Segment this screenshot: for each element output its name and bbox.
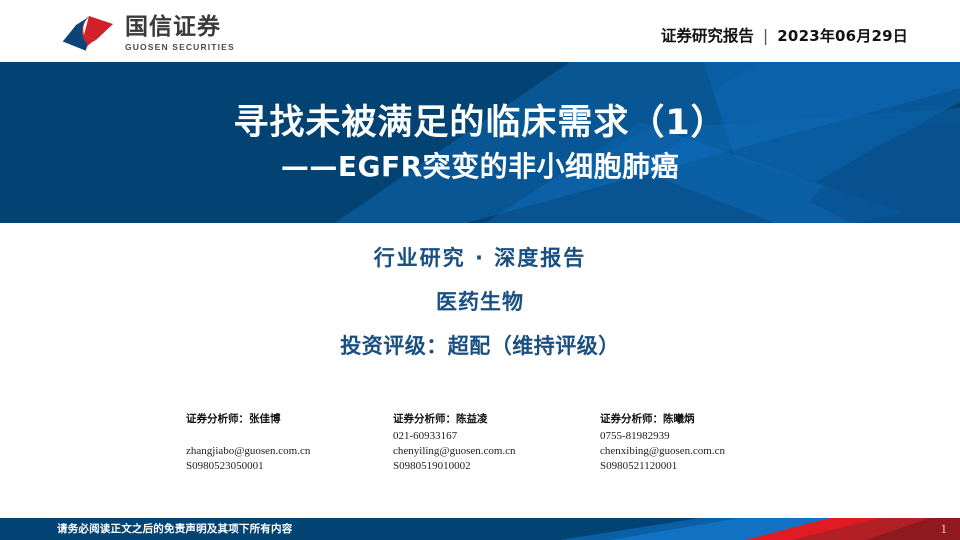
investment-rating: 投资评级：超配（维持评级） (0, 331, 960, 361)
report-date: 2023年06月29日 (777, 25, 908, 46)
analyst-name: 证券分析师：陈曦炳 (600, 411, 807, 427)
analyst-license: S0980521120001 (600, 459, 807, 474)
banner-text-block: 寻找未被满足的临床需求（1） ——EGFR突变的非小细胞肺癌 (0, 62, 960, 223)
header-separator: | (763, 26, 768, 45)
analyst-email[interactable]: chenxibing@guosen.com.cn (600, 444, 807, 459)
guosen-logo-mark-icon (60, 13, 116, 53)
page-number: 1 (941, 520, 948, 538)
brand-lockup: 国信证券 GUOSEN SECURITIES (60, 13, 235, 53)
page-title: 寻找未被满足的临床需求（1） (233, 101, 726, 145)
analyst-phone: 021-60933167 (393, 429, 600, 444)
page-footer: 请务必阅读正文之后的免责声明及其项下所有内容 1 (0, 518, 960, 540)
title-banner: 寻找未被满足的临床需求（1） ——EGFR突变的非小细胞肺癌 (0, 62, 960, 223)
research-category: 行业研究 · 深度报告 (0, 243, 960, 273)
report-type-label: 证券研究报告 (661, 24, 754, 46)
analyst-phone: 0755-81982939 (600, 429, 807, 444)
brand-name-cn: 国信证券 (125, 15, 235, 40)
analyst-email[interactable]: zhangjiabo@guosen.com.cn (186, 444, 393, 459)
analyst-list: 证券分析师：张佳博 zhangjiabo@guosen.com.cn S0980… (186, 411, 846, 474)
analyst-entry: 证券分析师：陈益凌 021-60933167 chenyiling@guosen… (393, 411, 600, 474)
analyst-entry: 证券分析师：张佳博 zhangjiabo@guosen.com.cn S0980… (186, 411, 393, 474)
analyst-entry: 证券分析师：陈曦炳 0755-81982939 chenxibing@guose… (600, 411, 807, 474)
analyst-name: 证券分析师：陈益凌 (393, 411, 600, 427)
page-subtitle: ——EGFR突变的非小细胞肺癌 (281, 149, 679, 185)
industry-name: 医药生物 (0, 287, 960, 317)
analyst-license: S0980523050001 (186, 459, 393, 474)
analyst-name: 证券分析师：张佳博 (186, 411, 393, 427)
analyst-phone-placeholder (186, 429, 393, 444)
page-header: 国信证券 GUOSEN SECURITIES 证券研究报告 | 2023年06月… (0, 0, 960, 62)
report-cover-slide: 国信证券 GUOSEN SECURITIES 证券研究报告 | 2023年06月… (0, 0, 960, 540)
header-meta: 证券研究报告 | 2023年06月29日 (661, 24, 908, 46)
analyst-email[interactable]: chenyiling@guosen.com.cn (393, 444, 600, 459)
analyst-license: S0980519010002 (393, 459, 600, 474)
brand-name-en: GUOSEN SECURITIES (125, 42, 235, 53)
footer-disclaimer: 请务必阅读正文之后的免责声明及其项下所有内容 (57, 521, 292, 537)
report-meta-block: 行业研究 · 深度报告 医药生物 投资评级：超配（维持评级） (0, 243, 960, 361)
brand-text: 国信证券 GUOSEN SECURITIES (125, 14, 235, 53)
